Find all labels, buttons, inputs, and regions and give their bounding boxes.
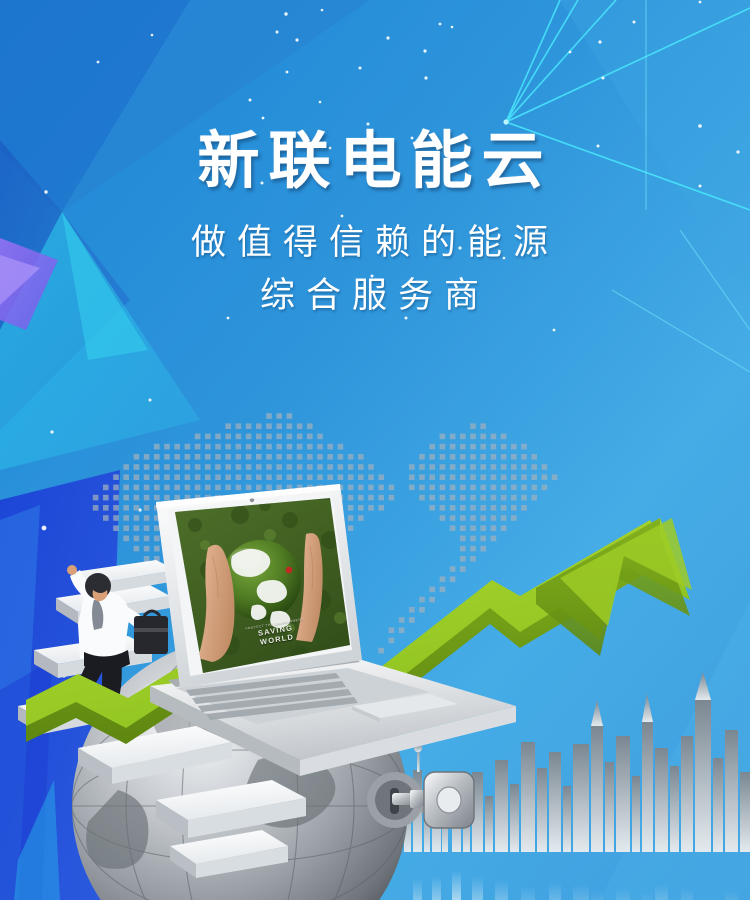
promo-poster: PROTECT THE ENVIRONMENT SAVING WORLD 新联电… (0, 0, 750, 900)
subtitle-line-1: 做值得信赖的能源 (0, 217, 750, 270)
page-title: 新联电能云 (0, 128, 750, 195)
headline-block: 新联电能云 做值得信赖的能源 综合服务商 (0, 128, 750, 323)
subtitle-line-2: 综合服务商 (0, 270, 750, 323)
page-subtitle: 做值得信赖的能源 综合服务商 (0, 217, 750, 323)
